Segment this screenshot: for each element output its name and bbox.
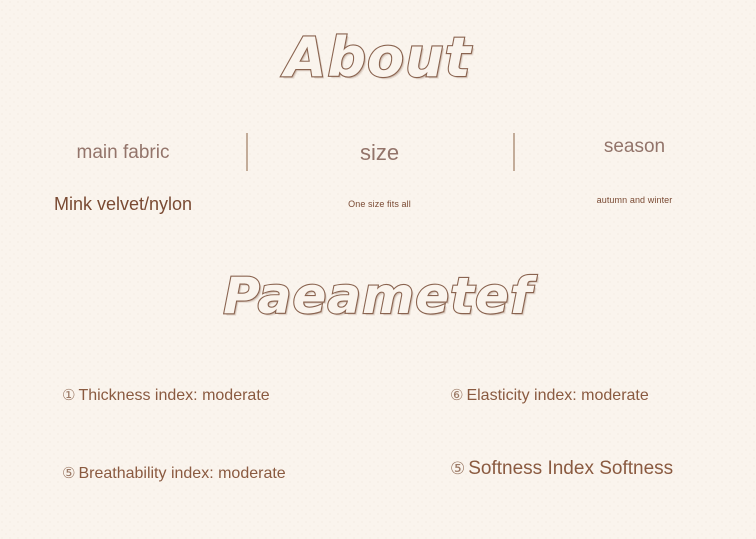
spec-label-main-fabric: main fabric [0, 128, 246, 164]
list-item-label: Softness Index Softness [468, 458, 673, 479]
list-item-label: Thickness index: moderate [78, 387, 269, 404]
page-title-about: About [0, 28, 756, 88]
page-title-parameter: Paeametef [0, 268, 756, 324]
circled-number-icon: ⑤ [62, 464, 75, 482]
spec-column-size: size One size fits all [246, 128, 513, 209]
spec-value-season: autumn and winter [513, 158, 756, 205]
list-item-label: Breathability index: moderate [78, 465, 285, 482]
spec-row: main fabric Mink velvet/nylon size One s… [0, 128, 756, 233]
spec-column-season: season autumn and winter [513, 128, 756, 205]
parameter-list: ①Thickness index: moderate ⑥Elasticity i… [0, 380, 756, 500]
list-item: ⑥Elasticity index: moderate [450, 384, 649, 407]
list-item: ⑤Breathability index: moderate [62, 462, 286, 485]
spec-label-size: size [246, 128, 513, 166]
spec-column-main-fabric: main fabric Mink velvet/nylon [0, 128, 246, 215]
list-item: ⑤Softness Index Softness [450, 458, 673, 480]
list-item: ①Thickness index: moderate [62, 384, 270, 407]
spec-label-season: season [513, 128, 756, 158]
spec-value-main-fabric: Mink velvet/nylon [0, 164, 246, 215]
list-item-label: Elasticity index: moderate [466, 387, 648, 404]
spec-value-size: One size fits all [246, 166, 513, 209]
circled-number-icon: ⑥ [450, 386, 463, 404]
circled-number-icon: ① [62, 386, 75, 404]
circled-number-icon: ⑤ [450, 459, 465, 479]
